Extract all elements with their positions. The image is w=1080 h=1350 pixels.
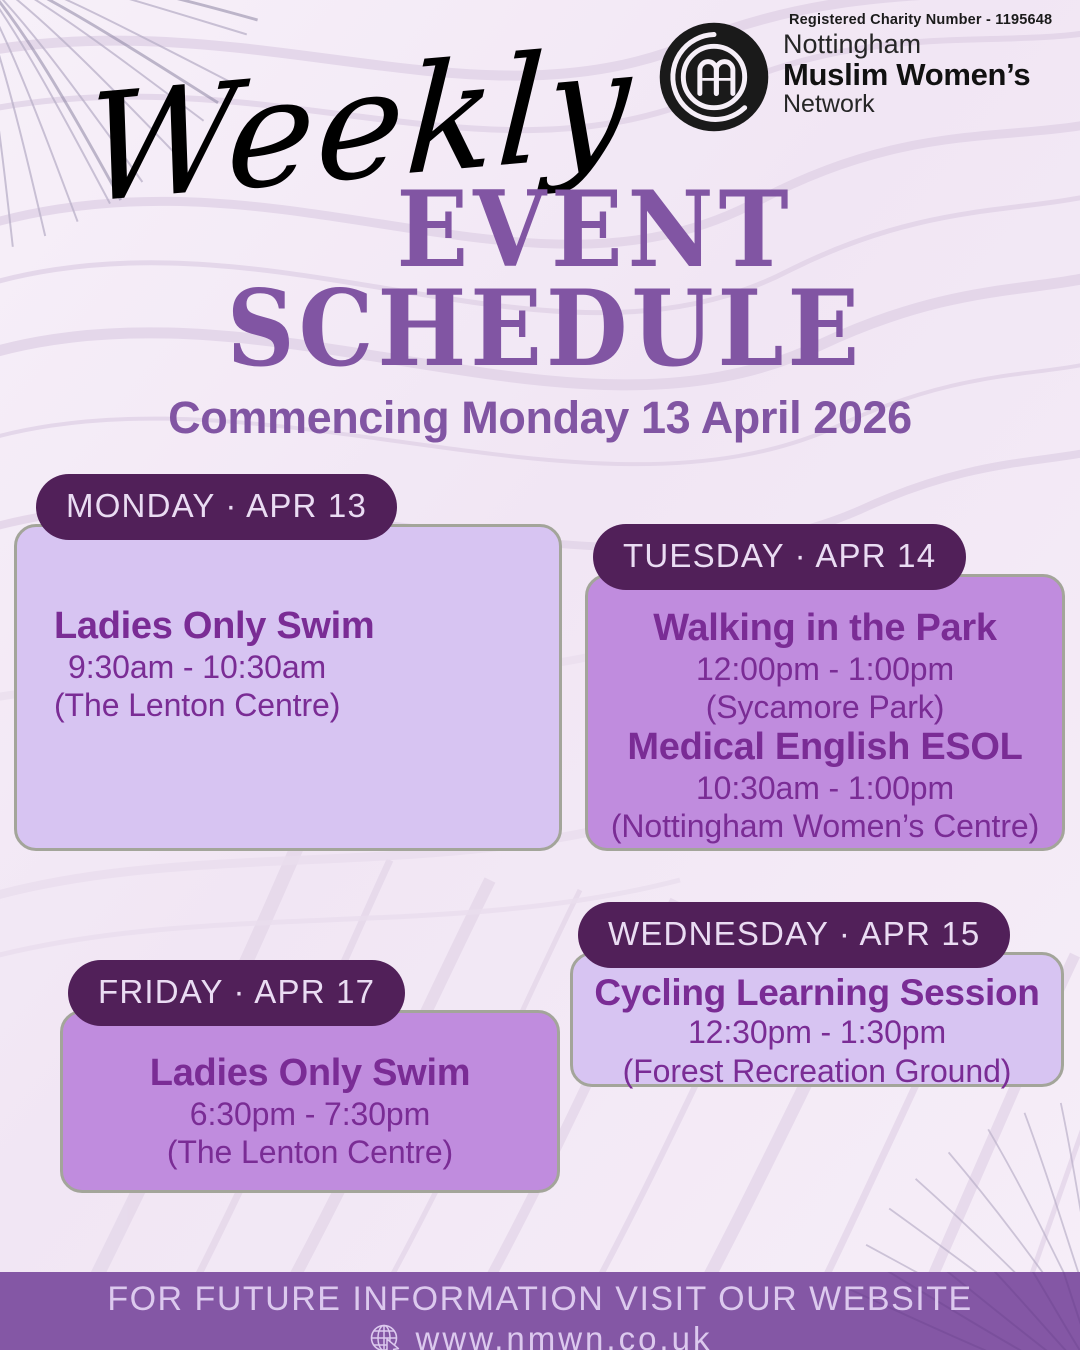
event-time: 12:30pm - 1:30pm bbox=[570, 1013, 1064, 1051]
brand-logo-block: Registered Charity Number - 1195648 Nott… bbox=[655, 6, 1055, 136]
card-content: Ladies Only Swim 6:30pm - 7:30pm (The Le… bbox=[60, 1052, 560, 1171]
day-pill-tuesday: TUESDAY · APR 14 bbox=[593, 524, 966, 590]
event-time: 12:00pm - 1:00pm bbox=[585, 650, 1065, 688]
event-time: 6:30pm - 7:30pm bbox=[60, 1095, 560, 1133]
card-content: Cycling Learning Session 12:30pm - 1:30p… bbox=[570, 972, 1064, 1090]
footer-website-row: www.nmwn.co.uk bbox=[0, 1320, 1080, 1350]
org-name-line3: Network bbox=[783, 91, 1052, 118]
org-name-line1: Nottingham bbox=[783, 31, 1052, 59]
day-card-monday: MONDAY · APR 13 Ladies Only Swim 9:30am … bbox=[14, 524, 562, 851]
nmwn-monogram-logo-icon bbox=[655, 18, 773, 136]
title-schedule: SCHEDULE bbox=[0, 276, 1080, 381]
footer-bar: FOR FUTURE INFORMATION VISIT OUR WEBSITE… bbox=[0, 1272, 1080, 1350]
footer-website-url[interactable]: www.nmwn.co.uk bbox=[416, 1320, 713, 1350]
charity-number: Registered Charity Number - 1195648 bbox=[789, 12, 1052, 28]
org-name-line2: Muslim Women’s bbox=[783, 59, 1052, 91]
globe-cursor-icon bbox=[368, 1321, 404, 1350]
event-title: Ladies Only Swim bbox=[60, 1052, 560, 1095]
day-pill-wednesday: WEDNESDAY · APR 15 bbox=[578, 902, 1010, 968]
day-pill-monday: MONDAY · APR 13 bbox=[36, 474, 397, 540]
day-card-wednesday: WEDNESDAY · APR 15 Cycling Learning Sess… bbox=[570, 952, 1064, 1087]
event-title: Walking in the Park bbox=[585, 607, 1065, 650]
day-card-tuesday: TUESDAY · APR 14 Walking in the Park 12:… bbox=[585, 574, 1065, 851]
event-time: 9:30am - 10:30am bbox=[54, 648, 562, 686]
event-location: (The Lenton Centre) bbox=[60, 1133, 560, 1171]
subtitle-commencing: Commencing Monday 13 April 2026 bbox=[0, 392, 1080, 444]
event-title: Ladies Only Swim bbox=[54, 605, 562, 648]
day-pill-friday: FRIDAY · APR 17 bbox=[68, 960, 405, 1026]
event-time: 10:30am - 1:00pm bbox=[585, 769, 1065, 807]
card-content: Ladies Only Swim 9:30am - 10:30am (The L… bbox=[14, 605, 562, 724]
day-card-friday: FRIDAY · APR 17 Ladies Only Swim 6:30pm … bbox=[60, 1010, 560, 1193]
poster-canvas: Registered Charity Number - 1195648 Nott… bbox=[0, 0, 1080, 1350]
card-content: Walking in the Park 12:00pm - 1:00pm (Sy… bbox=[585, 607, 1065, 846]
event-location: (Sycamore Park) bbox=[585, 688, 1065, 726]
event-location: (The Lenton Centre) bbox=[54, 686, 562, 724]
brand-text: Registered Charity Number - 1195648 Nott… bbox=[783, 6, 1052, 118]
event-title: Medical English ESOL bbox=[585, 726, 1065, 769]
event-location: (Nottingham Women’s Centre) bbox=[585, 807, 1065, 845]
event-title: Cycling Learning Session bbox=[570, 972, 1064, 1013]
footer-info-text: FOR FUTURE INFORMATION VISIT OUR WEBSITE bbox=[0, 1280, 1080, 1319]
event-location: (Forest Recreation Ground) bbox=[570, 1052, 1064, 1090]
